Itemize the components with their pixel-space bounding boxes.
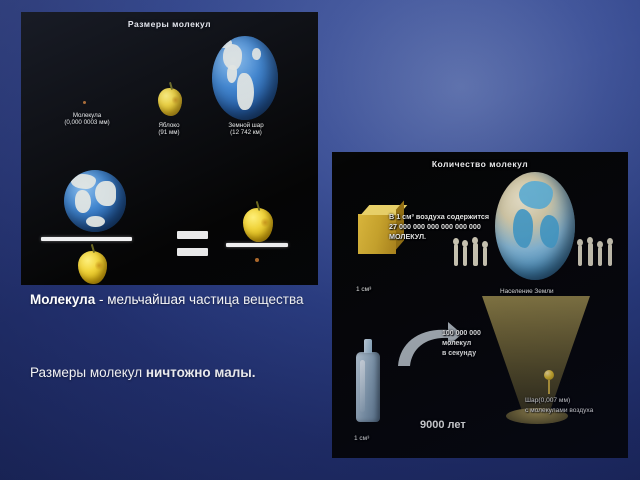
molecule-dot-icon: [83, 101, 86, 104]
molecule-dot-icon-right-pan: [255, 258, 259, 262]
caption-sizes-lead: Размеры молекул: [30, 365, 146, 380]
balance-beam-left: [41, 237, 132, 241]
caption-molecule: Молекула - мельчайшая частица вещества: [30, 292, 310, 309]
label-molecule: Молекула (0,000 0003 мм): [48, 112, 126, 126]
figure-molecule-count: Количество молекул 1 см³ В 1 см³ воздуха…: [332, 152, 628, 458]
air-sphere-stem-icon: [548, 380, 550, 394]
bottle-neck-icon: [364, 339, 372, 353]
apple-icon-left-pan: [78, 251, 107, 284]
label-years: 9000 лет: [420, 419, 466, 432]
apple-icon-right-pan: [243, 208, 273, 242]
figure-molecule-count-title: Количество молекул: [332, 159, 628, 169]
label-bottle-volume: 1 см³: [354, 435, 369, 442]
apple-blush: [172, 95, 178, 105]
caption-sizes-emphasis: ничтожно малы.: [146, 365, 256, 380]
apple-icon-top: [158, 88, 182, 116]
label-air-content-line3: МОЛЕКУЛ.: [389, 233, 426, 241]
bottle-shine: [360, 360, 365, 412]
earth-globe-large-icon: [212, 36, 278, 120]
label-apple: Яблоко (91 мм): [138, 122, 200, 136]
label-sphere-line1: Шар(0,007 мм): [525, 397, 570, 405]
label-population: Население Земли: [500, 288, 554, 295]
label-air-content-line2: 27 000 000 000 000 000 000: [389, 223, 481, 231]
label-sphere-line2: с молекулами воздуха: [525, 407, 593, 415]
bottle-icon: [356, 352, 380, 422]
label-cube-volume: 1 см³: [356, 286, 371, 293]
figure-molecule-sizes-title: Размеры молекул: [21, 19, 318, 29]
caption-sizes: Размеры молекул ничтожно малы.: [30, 365, 320, 382]
label-rate-line2: молекул: [442, 340, 471, 348]
apple-blush: [95, 260, 103, 271]
people-group-left: [452, 234, 496, 268]
label-rate-line1: 100 000 000: [442, 330, 481, 338]
balance-beam-right: [226, 243, 288, 247]
caption-molecule-term: Молекула: [30, 292, 95, 307]
apple-stem-icon: [256, 200, 260, 210]
equals-sign-icon: [177, 231, 208, 239]
presentation-slide: Размеры молекул Молекула (0,000 0003 мм)…: [0, 0, 640, 480]
earth-globe-population-icon: [495, 172, 575, 280]
figure-molecule-sizes: Размеры молекул Молекула (0,000 0003 мм)…: [21, 12, 318, 285]
air-sphere-icon: [544, 370, 554, 380]
apple-stem-icon: [91, 244, 95, 253]
label-air-content-line1: В 1 см³ воздуха содержится: [389, 213, 489, 221]
apple-blush: [261, 217, 269, 229]
caption-molecule-rest: - мельчайшая частица вещества: [95, 292, 303, 307]
label-rate-line3: в секунду: [442, 350, 476, 358]
apple-stem-icon: [168, 82, 172, 90]
label-earth: Земной шар (12 742 км): [207, 122, 285, 136]
earth-globe-small-icon: [64, 170, 126, 232]
people-group-right: [576, 234, 620, 268]
equals-sign-icon: [177, 248, 208, 256]
